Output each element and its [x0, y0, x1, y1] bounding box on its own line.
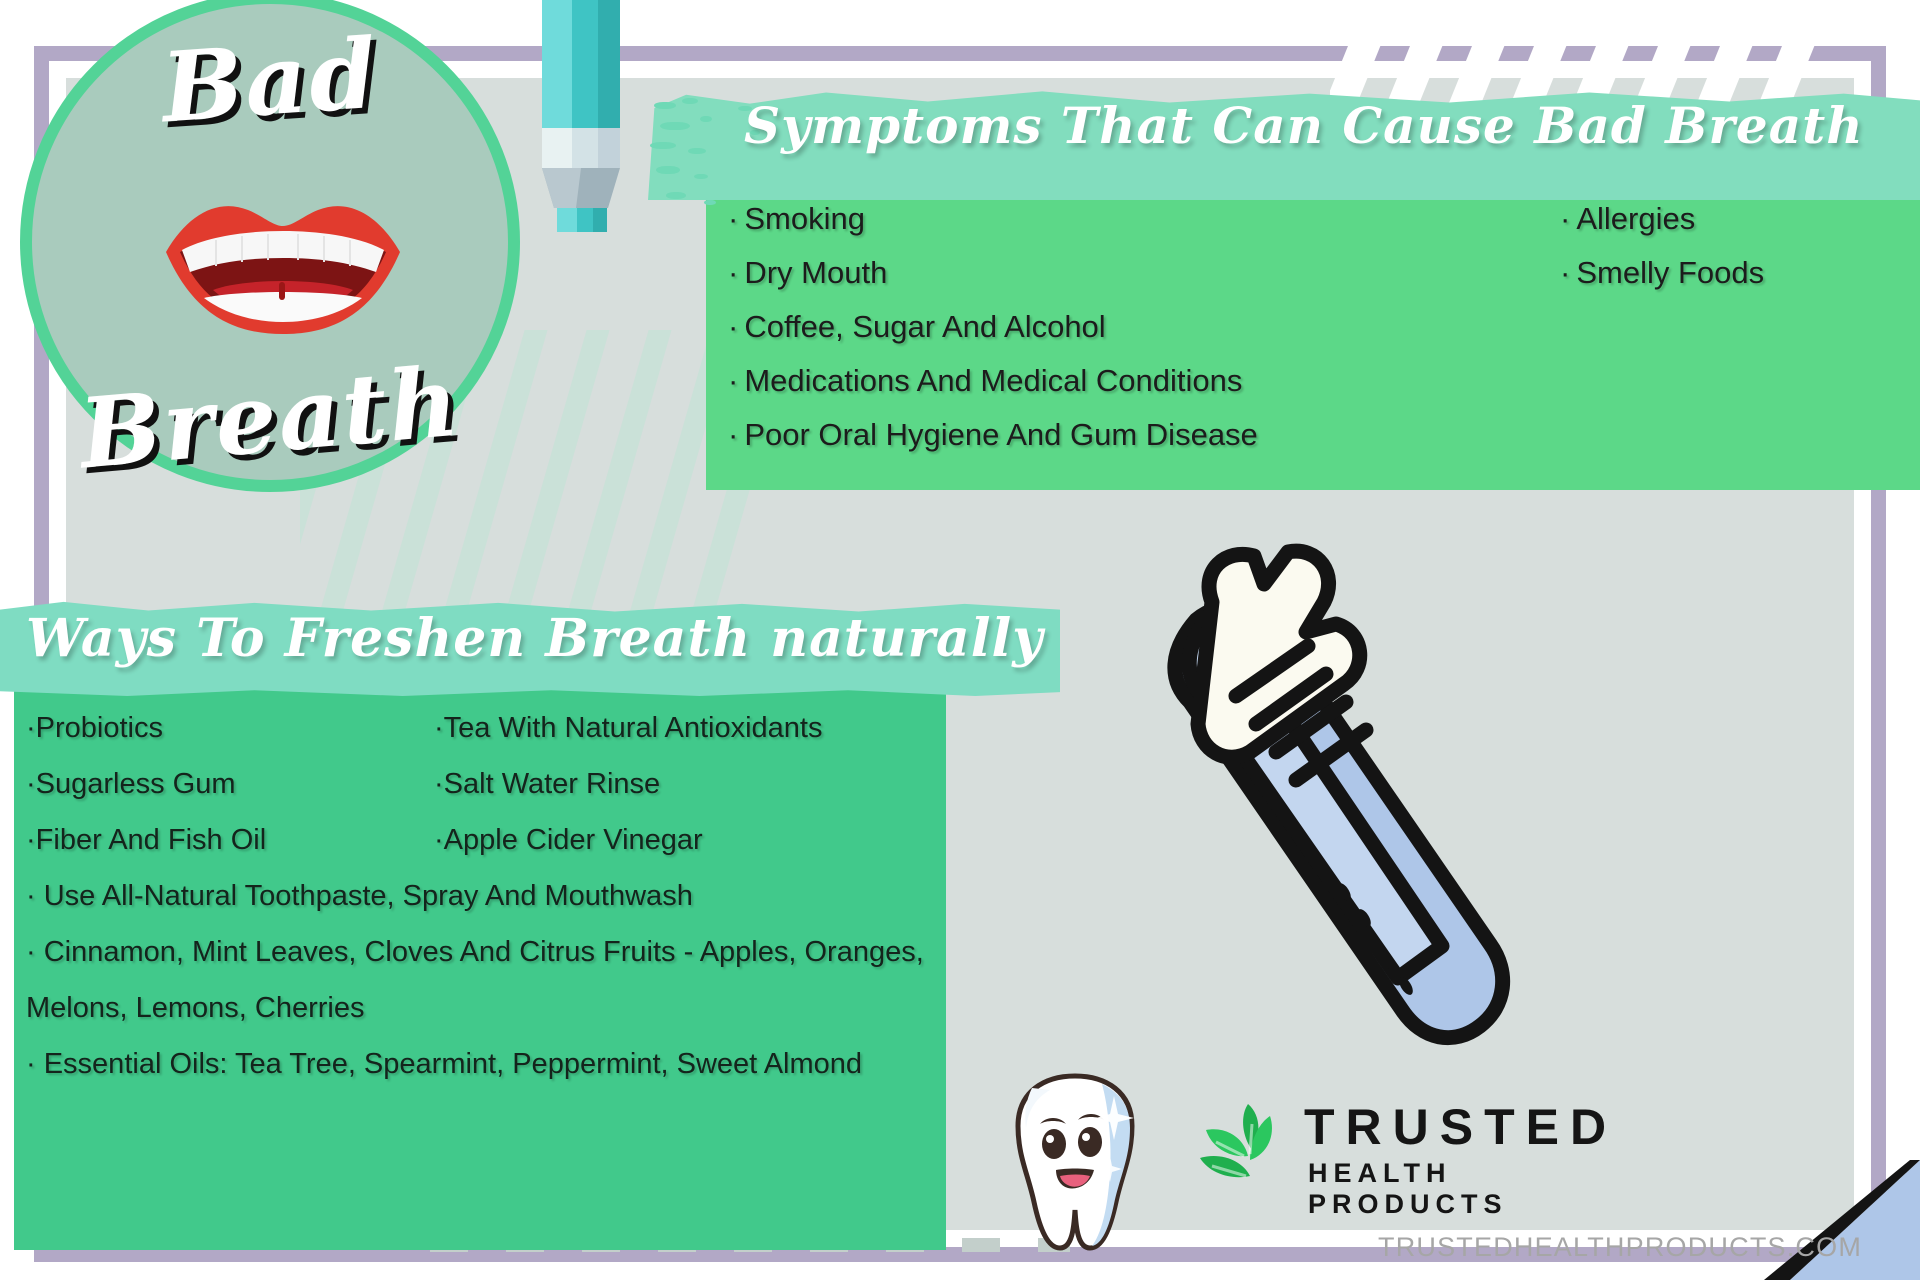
list-item: · Essential Oils: Tea Tree, Spearmint, P… [26, 1036, 946, 1092]
list-item-label: Tea With Natural Antioxidants [444, 712, 823, 744]
list-item-label: Medications And Medical Conditions [744, 363, 1242, 398]
bullet-icon: · [728, 246, 738, 300]
toothpaste-tube-icon [524, 0, 636, 232]
list-item-label: Apple Cider Vinegar [444, 824, 703, 856]
smiling-tooth-icon [1010, 1070, 1140, 1255]
open-mouth-lips-icon [158, 186, 408, 334]
ways-column-right: ·Tea With Natural Antioxidants·Salt Wate… [434, 700, 954, 868]
ways-list: ·Probiotics·Sugarless Gum·Fiber And Fish… [26, 700, 946, 1092]
bullet-icon: · [728, 354, 738, 408]
brand-tagline: HEALTH PRODUCTS [1308, 1158, 1596, 1220]
list-item-label: Probiotics [36, 712, 163, 744]
list-item: ·Apple Cider Vinegar [434, 812, 954, 868]
bullet-icon: · [26, 712, 36, 744]
badge-word-bad: Bad [29, 8, 512, 154]
footer-url[interactable]: TRUSTEDHEALTHPRODUCTS.COM [1378, 1232, 1862, 1263]
bad-breath-badge: Bad Breath [20, 0, 520, 492]
bullet-icon: · [434, 712, 444, 744]
bullet-icon: · [434, 824, 444, 856]
ways-two-columns: ·Probiotics·Sugarless Gum·Fiber And Fish… [26, 700, 946, 868]
ways-wide-items: · Use All-Natural Toothpaste, Spray And … [26, 868, 946, 1092]
list-item-label: Sugarless Gum [36, 768, 236, 800]
list-item-label: Allergies [1576, 201, 1695, 236]
list-item-label: Fiber And Fish Oil [36, 824, 266, 856]
infographic-canvas: Bad Breath Symptoms That Can Cause Bad B… [0, 0, 1920, 1280]
list-item: ·Salt Water Rinse [434, 756, 954, 812]
bullet-icon: · [434, 768, 444, 800]
list-item: · Cinnamon, Mint Leaves, Cloves And Citr… [26, 924, 946, 1036]
list-item: ·Smoking [728, 192, 1488, 246]
list-item: ·Dry Mouth [728, 246, 1488, 300]
list-item: ·Fiber And Fish Oil [26, 812, 426, 868]
list-item: ·Allergies [1560, 192, 1920, 246]
list-item-label: Dry Mouth [744, 255, 887, 290]
list-item-label: Smoking [744, 201, 865, 236]
bullet-icon: · [26, 824, 36, 856]
list-item: ·Tea With Natural Antioxidants [434, 700, 954, 756]
symptoms-title: Symptoms That Can Cause Bad Breath [744, 96, 1920, 155]
leaves-icon [1196, 1100, 1292, 1192]
symptoms-column-left: ·Smoking·Dry Mouth·Coffee, Sugar And Alc… [728, 192, 1488, 462]
list-item: ·Poor Oral Hygiene And Gum Disease [728, 408, 1488, 462]
bullet-icon: · [728, 300, 738, 354]
list-item: ·Sugarless Gum [26, 756, 426, 812]
brand-name: TRUSTED [1304, 1098, 1617, 1156]
brand-logo: TRUSTED HEALTH PRODUCTS [1196, 1092, 1596, 1202]
toothbrush-icon [1050, 540, 1520, 1160]
list-item-label: Smelly Foods [1576, 255, 1764, 290]
bullet-icon: · [1560, 192, 1570, 246]
bullet-icon: · [1560, 246, 1570, 300]
bullet-icon: · [728, 192, 738, 246]
list-item: ·Probiotics [26, 700, 426, 756]
list-item-label: Poor Oral Hygiene And Gum Disease [744, 417, 1257, 452]
list-item: ·Coffee, Sugar And Alcohol [728, 300, 1488, 354]
bullet-icon: · [26, 768, 36, 800]
ways-title: Ways To Freshen Breath naturally [26, 608, 1036, 669]
symptoms-column-right: ·Allergies·Smelly Foods [1560, 192, 1920, 300]
list-item-label: Coffee, Sugar And Alcohol [744, 309, 1105, 344]
list-item: ·Medications And Medical Conditions [728, 354, 1488, 408]
list-item-label: Salt Water Rinse [444, 768, 661, 800]
ways-column-left: ·Probiotics·Sugarless Gum·Fiber And Fish… [26, 700, 426, 868]
bullet-icon: · [728, 408, 738, 462]
list-item: · Use All-Natural Toothpaste, Spray And … [26, 868, 946, 924]
list-item: ·Smelly Foods [1560, 246, 1920, 300]
